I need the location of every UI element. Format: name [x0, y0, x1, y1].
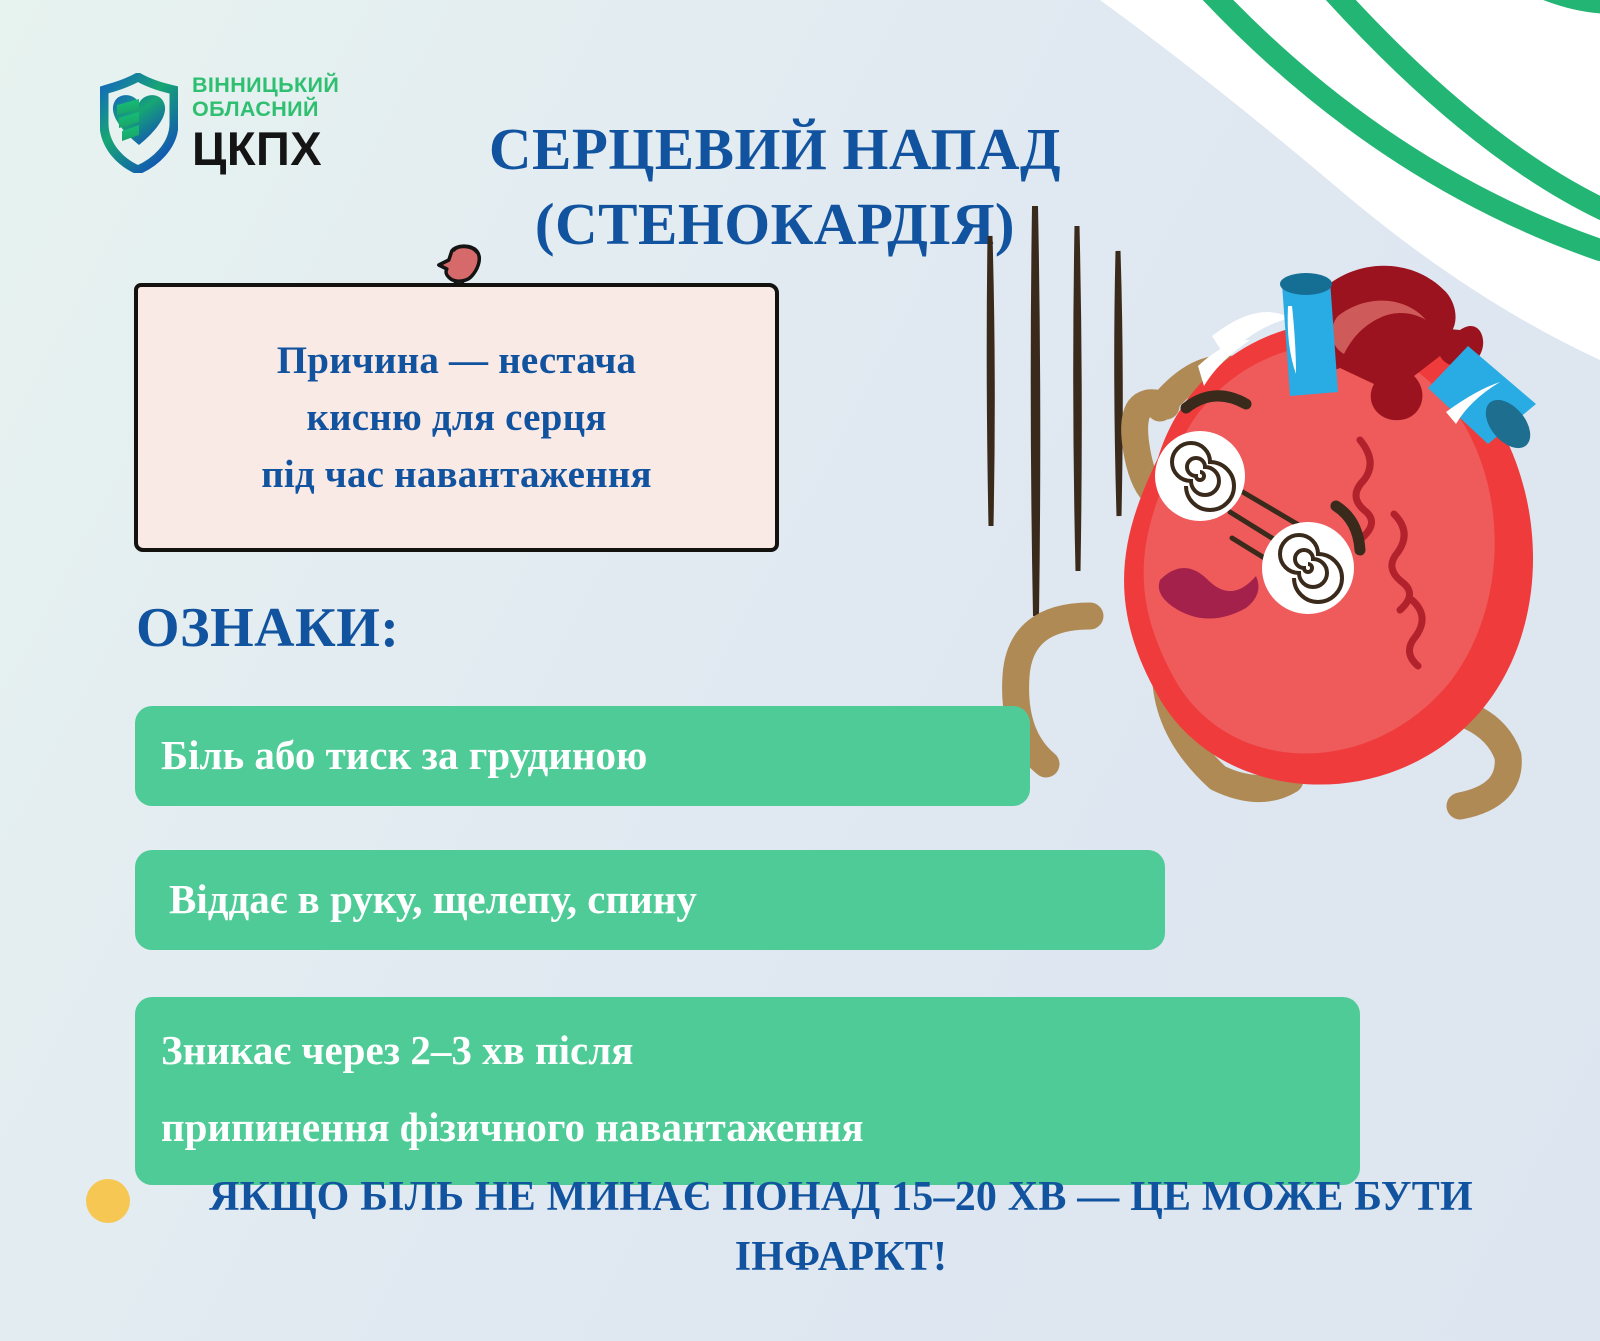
logo-abbreviation: ЦКПХ	[192, 125, 339, 172]
heart-face	[1155, 396, 1360, 619]
corner-decoration	[1040, 0, 1600, 360]
sign-bar-1-text: Біль або тиск за грудиною	[161, 724, 647, 787]
heart-highlight-2	[1198, 340, 1250, 386]
left-arm	[1135, 403, 1166, 496]
sign-bar-3-line-1: Зникає через 2–3 хв після	[161, 1019, 1334, 1082]
vessel-right-opening	[1477, 392, 1539, 457]
sign-bar-3-line-2: припинення фізичного навантаження	[161, 1096, 1334, 1159]
swoosh-stroke-2	[1305, 0, 1600, 215]
warning-line-2: ІНФАРКТ!	[146, 1228, 1536, 1288]
shield-heart-logo-icon	[100, 73, 178, 173]
vessel-top	[1282, 280, 1338, 396]
note-line-2: кисню для серця	[162, 390, 751, 447]
signs-list: Біль або тиск за грудиною Віддає в руку,…	[135, 706, 1455, 1185]
infographic-poster: ВІННИЦЬКИЙ ОБЛАСНИЙ ЦКПХ СЕРЦЕВИЙ НАПАД …	[0, 0, 1600, 1341]
warning-callout: ЯКЩО БІЛЬ НЕ МИНАЄ ПОНАД 15–20 ХВ — ЦЕ М…	[86, 1168, 1536, 1287]
logo-line-1: ВІННИЦЬКИЙ	[192, 75, 339, 97]
title-line-1: СЕРЦЕВИЙ НАПАД	[430, 112, 1120, 188]
warning-bullet-dot-icon	[86, 1179, 130, 1223]
sign-bar-2-text: Віддає в руку, щелепу, спину	[169, 868, 697, 931]
vessel-top-shine	[1288, 306, 1296, 374]
sign-bar-1: Біль або тиск за грудиною	[135, 706, 1030, 806]
cause-note: Причина — нестача кисню для серця під ча…	[134, 283, 779, 552]
aorta-arteries	[1303, 266, 1483, 420]
heart-veins	[1356, 440, 1422, 666]
organization-logo: ВІННИЦЬКИЙ ОБЛАСНИЙ ЦКПХ	[100, 73, 339, 173]
vessel-top-opening	[1280, 273, 1332, 295]
dizzy-eye-left	[1155, 431, 1245, 521]
page-title: СЕРЦЕВИЙ НАПАД (СТЕНОКАРДІЯ)	[430, 112, 1120, 263]
warning-text: ЯКЩО БІЛЬ НЕ МИНАЄ ПОНАД 15–20 ХВ — ЦЕ М…	[86, 1168, 1536, 1287]
vessel-right	[1428, 346, 1536, 444]
wavy-mouth	[1159, 568, 1259, 619]
logo-line-2: ОБЛАСНИЙ	[192, 99, 339, 121]
eyebrow-right	[1336, 506, 1360, 550]
signs-heading: ОЗНАКИ:	[136, 600, 399, 656]
sign-bar-2: Віддає в руку, щелепу, спину	[135, 850, 1165, 950]
note-line-3: під час навантаження	[162, 447, 751, 504]
dizzy-lines	[1230, 488, 1314, 580]
vessel-right-shine	[1446, 382, 1500, 424]
warning-line-1: ЯКЩО БІЛЬ НЕ МИНАЄ ПОНАД 15–20 ХВ — ЦЕ М…	[146, 1168, 1536, 1228]
heart-highlight	[1212, 312, 1290, 358]
cause-note-card: Причина — нестача кисню для серця під ча…	[134, 283, 779, 552]
title-line-2: (СТЕНОКАРДІЯ)	[430, 187, 1120, 263]
sign-bar-3: Зникає через 2–3 хв після припинення фіз…	[135, 997, 1360, 1185]
motion-lines	[989, 206, 1120, 616]
blue-vessels	[1280, 273, 1539, 456]
eyebrow-left	[1186, 396, 1246, 408]
swoosh-stroke-1	[1190, 0, 1600, 250]
left-arm-upper	[1160, 369, 1260, 408]
swoosh-blob	[1440, 0, 1600, 14]
corner-white-shape	[1100, 0, 1600, 360]
note-line-1: Причина — нестача	[162, 333, 751, 390]
dizzy-eye-right	[1262, 522, 1354, 614]
